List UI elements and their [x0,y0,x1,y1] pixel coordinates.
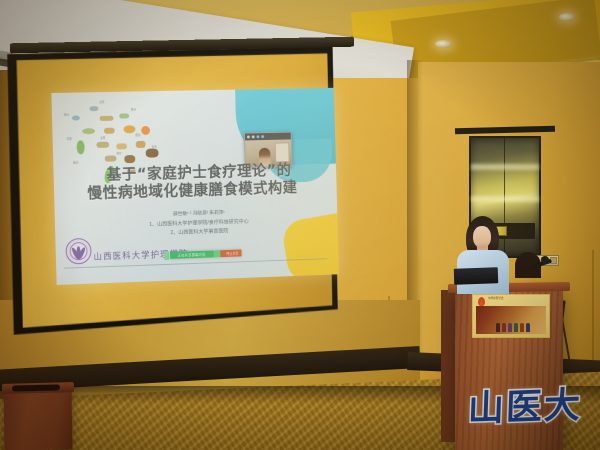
map-label: 朔州 [64,113,69,117]
map-food-icon [72,115,80,120]
map-food-icon [77,140,85,154]
screen-share-toolbar[interactable]: 正在共享屏幕内容 停止共享 [170,250,242,259]
poster-figure [520,323,524,332]
stop-share-label: 停止共享 [226,251,238,256]
trash-bin-opening [12,384,60,391]
poster-heading: 中华护理学会 [488,297,546,301]
map-food-icon [116,143,127,149]
projected-slide: 大同 朔州 忻州 吕梁 太原 阳泉 晋中 长治 临汾 运城 [51,88,339,285]
mirror-light-reflection [471,196,539,202]
laptop-on-podium[interactable] [454,267,499,285]
slide-title: 基于“家庭护士食疗理论”的 慢性病地域化健康膳食模式构建 [83,160,314,202]
slide-authors-block: 薛世敏¹ ² 冯晓源² 朱莉萍¹ 1、山西医科大学护理学院/食疗科技研究中心 2… [110,208,287,241]
map-label: 晋中 [116,151,121,155]
map-food-icon [105,155,117,161]
map-food-icon [146,148,159,157]
map-food-icon [136,141,146,148]
speaker-face [473,226,491,248]
poster-figure [526,323,530,332]
downlight-icon [435,40,452,48]
poster-figure [496,323,500,332]
map-food-icon [96,142,109,148]
map-food-icon [119,113,129,118]
map-food-icon [123,125,135,133]
map-label: 太原 [100,136,105,140]
share-status-label: 正在共享屏幕内容 [178,252,206,258]
map-label: 阳泉 [135,133,140,137]
map-food-icon [82,128,95,134]
map-food-icon [89,106,98,111]
map-food-icon [141,126,150,135]
window-dot-icon [252,135,255,138]
poster-figure [502,323,506,332]
poster-figure [508,323,512,332]
downlight-icon [559,13,575,21]
map-label: 临汾 [73,160,78,164]
slide-yellow-shape [281,211,339,285]
flame-logo-icon [478,297,485,306]
map-label: 大同 [99,100,104,104]
wall-seam [592,250,594,360]
map-food-icon [100,116,114,121]
poster-figure [514,323,518,332]
poster-photograph [476,306,546,334]
map-food-icon [124,155,135,163]
trash-bin [3,385,72,450]
podium-poster: 中华护理学会 [472,294,550,338]
university-logo-icon [65,238,91,265]
map-label: 吕梁 [66,137,71,141]
watermark-text: 山医大 [467,376,583,432]
window-dot-icon [261,135,264,138]
map-label: 忻州 [131,107,136,111]
microphone-head-icon [541,256,549,264]
share-toolbar-handle[interactable] [164,251,169,260]
mirror-light-reflection [471,164,539,170]
map-food-icon [104,128,115,134]
conference-room-photo: 大同 朔州 忻州 吕梁 太原 阳泉 晋中 长治 临汾 运城 [0,0,600,450]
video-background-panel [275,142,290,162]
window-dot-icon [256,135,259,138]
map-label: 长治 [151,145,156,149]
window-dot-icon [247,135,250,138]
